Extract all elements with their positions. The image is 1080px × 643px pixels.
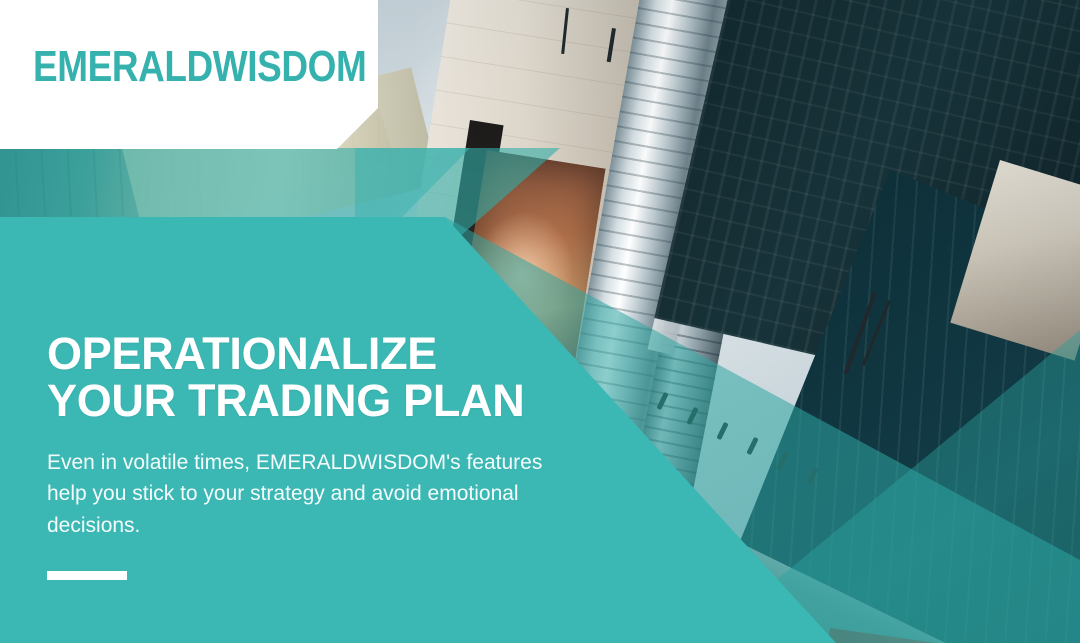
brand-logo[interactable]: EMERALDWISDOM bbox=[33, 45, 366, 89]
logo-panel: EMERALDWISDOM bbox=[0, 0, 378, 149]
promo-banner: EMERALDWISDOM OPERATIONALIZE YOUR TRADIN… bbox=[0, 0, 1080, 643]
accent-rule bbox=[47, 571, 127, 580]
hero-content: OPERATIONALIZE YOUR TRADING PLAN Even in… bbox=[47, 330, 567, 542]
hero-subcopy: Even in volatile times, EMERALDWISDOM's … bbox=[47, 447, 552, 543]
page-title: OPERATIONALIZE YOUR TRADING PLAN bbox=[47, 330, 567, 425]
